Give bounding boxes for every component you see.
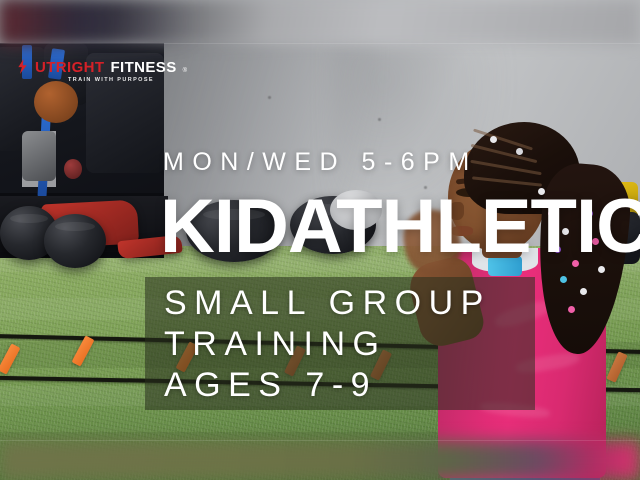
- bottom-blur-band: [0, 441, 640, 480]
- logo-word-primary: UTRIGHT: [35, 59, 104, 76]
- wall-speck: [378, 118, 381, 121]
- hair-bead: [560, 276, 567, 283]
- registered-mark: ®: [183, 68, 187, 74]
- outright-fitness-logo: UTRIGHT FITNESS ® TRAIN WITH PURPOSE: [16, 57, 156, 83]
- lightning-bolt-icon: [16, 59, 29, 74]
- medicine-ball: [44, 214, 106, 268]
- top-band-edge: [0, 43, 640, 44]
- foam-block: [22, 131, 56, 181]
- bottom-band-edge: [0, 440, 640, 441]
- program-line-1: SMALL GROUP: [164, 283, 491, 324]
- wall-speck: [268, 96, 271, 99]
- logo-word-secondary: FITNESS: [110, 59, 176, 76]
- medicine-ball: [34, 81, 78, 123]
- page-title: KIDATHLETICS: [160, 191, 640, 263]
- logo-tagline: TRAIN WITH PURPOSE: [16, 77, 156, 83]
- hair-bead: [580, 288, 587, 295]
- small-ball: [64, 159, 82, 179]
- hair-bead: [490, 136, 497, 143]
- program-line-2: TRAINING: [164, 324, 491, 365]
- schedule-kicker: MON/WED 5-6PM: [163, 148, 478, 177]
- hair-bead: [516, 148, 523, 155]
- hair-bead: [568, 306, 575, 313]
- promo-graphic: MON/WED 5-6PM KIDATHLETICS SMALL GROUP T…: [0, 0, 640, 480]
- program-line-3: AGES 7-9: [164, 365, 491, 406]
- program-details: SMALL GROUP TRAINING AGES 7-9: [164, 283, 491, 406]
- top-blur-haze: [0, 0, 200, 44]
